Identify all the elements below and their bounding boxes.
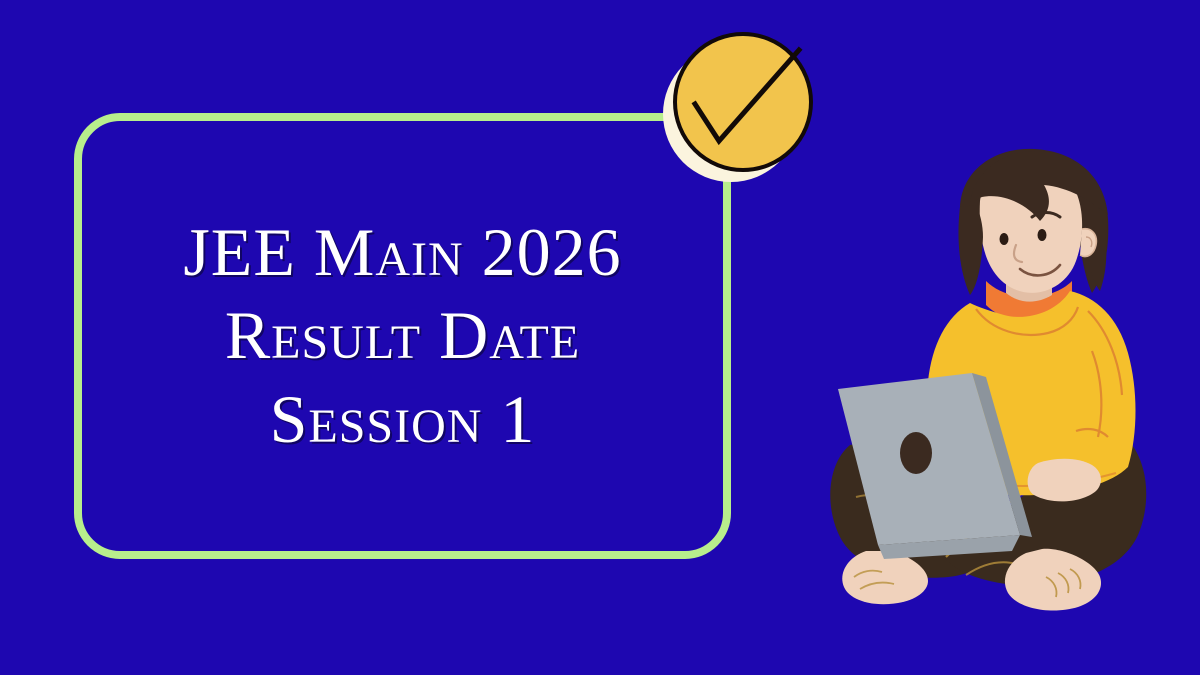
check-mark-badge bbox=[655, 22, 830, 197]
eye-right bbox=[1038, 229, 1047, 241]
poster-canvas: JEE Main 2026 Result Date Session 1 bbox=[0, 0, 1200, 675]
hair-side-left bbox=[958, 205, 983, 295]
eye-left bbox=[1000, 233, 1009, 245]
head-group bbox=[958, 149, 1108, 295]
rounded-rectangle-frame bbox=[74, 113, 731, 559]
person-with-laptop-illustration bbox=[820, 145, 1180, 625]
forearm-skin bbox=[1028, 459, 1101, 502]
laptop-logo bbox=[900, 432, 932, 474]
